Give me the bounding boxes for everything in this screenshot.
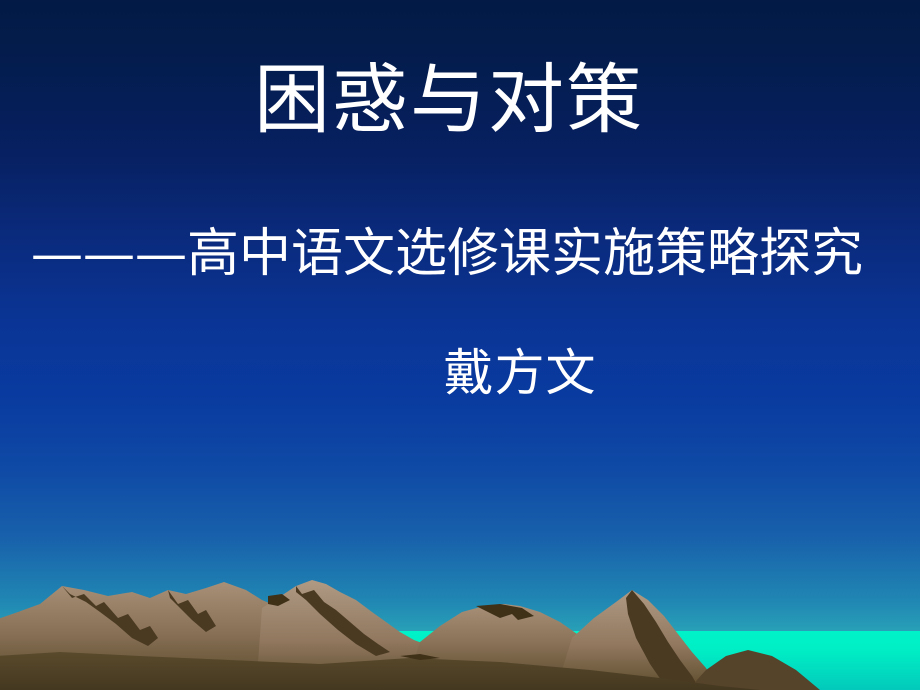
slide-title: 困惑与对策: [0, 62, 920, 138]
presentation-slide: 困惑与对策 ———高中语文选修课实施策略探究 戴方文: [0, 0, 920, 690]
mountain-range-graphic: [0, 560, 920, 690]
mountain-far-right: [688, 650, 820, 690]
slide-subtitle: ———高中语文选修课实施策略探究: [0, 228, 920, 280]
slide-author: 戴方文: [0, 348, 920, 398]
